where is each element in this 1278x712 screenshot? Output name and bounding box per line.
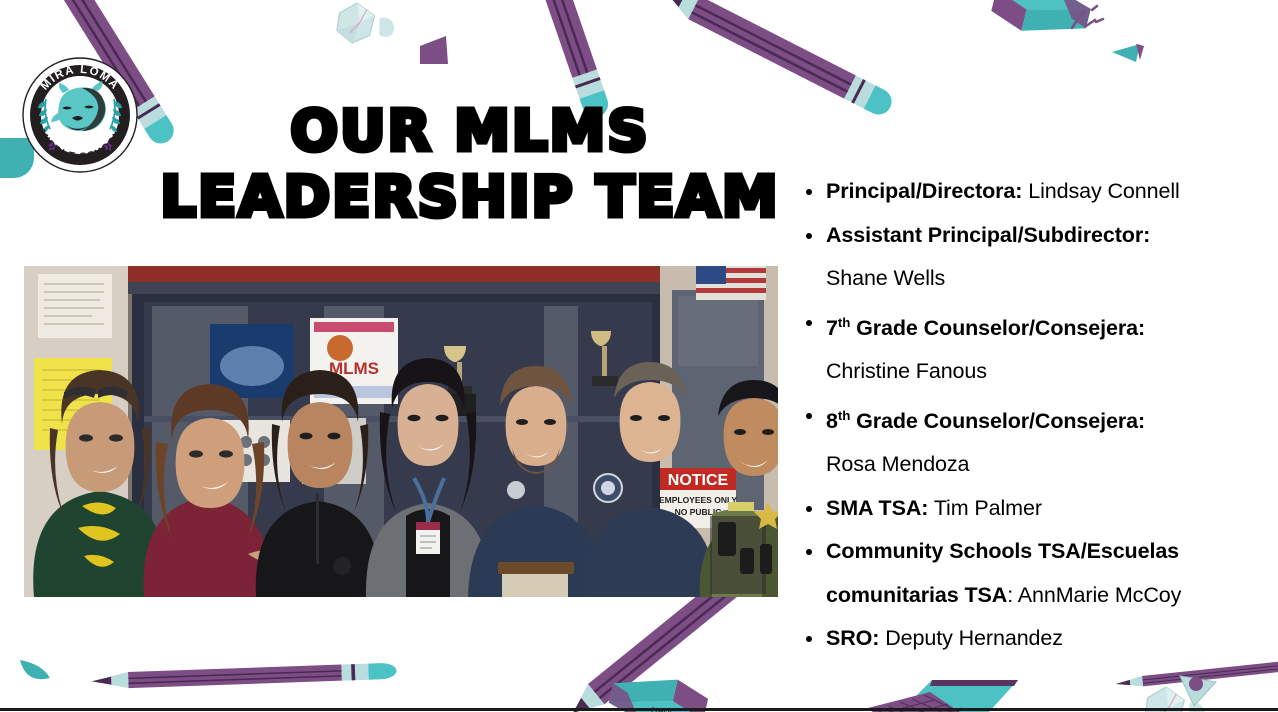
list-item: 8th Grade Counselor/Consejera: Rosa Mend… bbox=[796, 394, 1264, 487]
roster-person: Deputy Hernandez bbox=[885, 626, 1063, 650]
roster-person: Lindsay Connell bbox=[1028, 179, 1180, 203]
laptop-icon bbox=[868, 680, 1018, 712]
svg-text:EMPLOYEES ONLY: EMPLOYEES ONLY bbox=[659, 495, 737, 505]
us-flag bbox=[696, 266, 766, 300]
list-item: Principal/Directora: Lindsay Connell bbox=[796, 170, 1264, 214]
roster-person: Shane Wells bbox=[826, 266, 945, 290]
eraser-icon: ERASER bbox=[988, 0, 1093, 46]
page-title: OUR MLMS LEADERSHIP TEAM bbox=[150, 104, 790, 226]
crumpled-paper-icon bbox=[1145, 687, 1205, 712]
paper-scrap-icon bbox=[1112, 44, 1140, 62]
list-item: SMA TSA: Tim Palmer bbox=[796, 487, 1264, 531]
roster-role: SRO: bbox=[826, 626, 879, 650]
svg-text:ERASER: ERASER bbox=[1013, 0, 1051, 2]
paper-scrap-icon bbox=[1189, 677, 1203, 691]
title-line-2: LEADERSHIP TEAM bbox=[150, 170, 790, 226]
eraser-dust-icon bbox=[1072, 6, 1103, 28]
eraser-icon: ERASER bbox=[606, 666, 710, 712]
pencil-icon bbox=[661, 0, 896, 119]
roster-role: Principal/Directora: bbox=[826, 179, 1022, 203]
crumpled-paper-icon bbox=[337, 3, 395, 43]
pencil-icon bbox=[91, 663, 396, 690]
roster-person: Tim Palmer bbox=[934, 496, 1042, 520]
list-item: 7th Grade Counselor/Consejera: Christine… bbox=[796, 301, 1264, 394]
list-item: SRO: Deputy Hernandez bbox=[796, 617, 1264, 661]
roster-person: Christine Fanous bbox=[826, 359, 987, 383]
title-line-1: OUR MLMS bbox=[150, 104, 790, 160]
leadership-team-photo: MLMS bbox=[24, 266, 778, 597]
svg-text:ERASER: ERASER bbox=[650, 704, 689, 712]
roster-person: AnnMarie McCoy bbox=[1018, 583, 1181, 607]
roster-role-colon: : bbox=[1007, 583, 1018, 607]
roster-role: Assistant Principal/Subdirector: bbox=[826, 223, 1150, 247]
roster-role-ordinal: 8th Grade Counselor/Consejera: bbox=[826, 409, 1145, 433]
roster-role: SMA TSA: bbox=[826, 496, 928, 520]
list-item: Assistant Principal/Subdirector: Shane W… bbox=[796, 214, 1264, 301]
mira-loma-middle-school-logo: MIRA LOMA MIDDLE SCHOOL bbox=[22, 57, 138, 173]
roster-role-ordinal: 7th Grade Counselor/Consejera: bbox=[826, 316, 1145, 340]
paper-scrap-icon bbox=[1136, 44, 1144, 60]
presentation-slide: ERASER bbox=[0, 0, 1278, 712]
slide-bottom-rule bbox=[0, 708, 1278, 711]
paper-scrap-icon bbox=[1180, 676, 1216, 706]
pencil-tip-icon bbox=[420, 36, 448, 64]
roster-person: Rosa Mendoza bbox=[826, 452, 969, 476]
leadership-roster-list: Principal/Directora: Lindsay Connell Ass… bbox=[796, 170, 1264, 661]
swoosh-icon bbox=[20, 660, 50, 679]
svg-text:NOTICE: NOTICE bbox=[668, 472, 729, 489]
list-item: Community Schools TSA/Escuelas comunitar… bbox=[796, 530, 1264, 617]
